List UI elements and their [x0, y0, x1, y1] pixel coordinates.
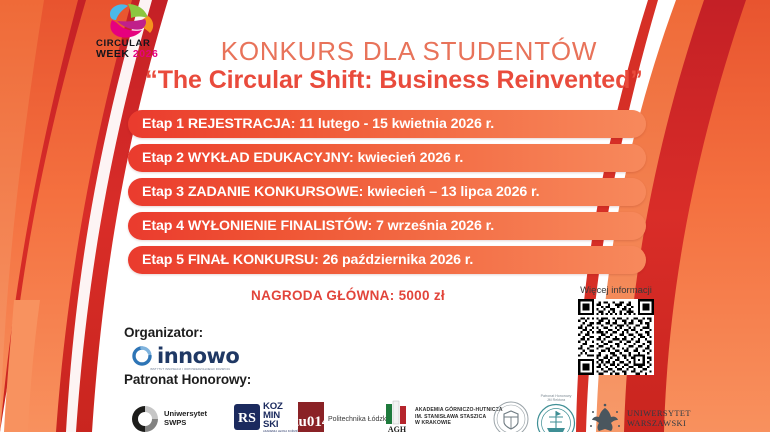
svg-text:RS: RS — [238, 411, 256, 426]
stage-bar-1: Etap 1 REJESTRACJA: 11 lutego - 15 kwiet… — [128, 110, 646, 138]
warszawa-seal-icon — [536, 403, 576, 432]
logo-agh-krakow: AGH AKADEMIA GÓRNICZO-HUTNICZA IM. STANI… — [384, 400, 503, 432]
qr-label: Więcej informacji — [566, 285, 666, 296]
qr-code[interactable] — [578, 299, 654, 375]
stage-label-1: Etap 1 REJESTRACJA: 11 lutego - 15 kwiet… — [128, 116, 494, 132]
patronage-logo-row: Uniwersytet SWPS RS KOZ MIN SKI AKADEMIA… — [126, 394, 656, 432]
stage-bar-4: Etap 4 WYŁONIENIE FINALISTÓW: 7 września… — [128, 212, 646, 240]
logo-miasto-stoleczne-warszawa: Patronat Honorowy JM Rektora — [536, 394, 576, 432]
stage-label-3: Etap 3 ZADANIE KONKURSOWE: kwiecień – 13… — [128, 184, 540, 200]
swps-line-2: SWPS — [164, 419, 207, 428]
stage-bar-3: Etap 3 ZADANIE KONKURSOWE: kwiecień – 13… — [128, 178, 646, 206]
circular-week-logo-mark — [102, 2, 164, 38]
agh-line-2: IM. STANISŁAWA STASZICA — [415, 414, 503, 421]
patronage-block: Patronat Honorowy: Uniwersytet SWPS — [124, 372, 251, 387]
poster-root: CIRCULAR WEEK 2026 KONKURS DLA STUDENTÓW… — [0, 0, 770, 432]
agh-line-3: W KRAKOWIE — [415, 420, 503, 427]
stage-bar-2: Etap 2 WYKŁAD EDUKACYJNY: kwiecień 2026 … — [128, 144, 646, 172]
stage-list: Etap 1 REJESTRACJA: 11 lutego - 15 kwiet… — [128, 110, 646, 280]
organizer-title: Organizator: — [124, 325, 239, 340]
prize-text: NAGRODA GŁÓWNA: 5000 zł — [128, 288, 568, 303]
politechnika-lodzka-label: Politechnika Łódzka — [328, 416, 390, 423]
logo-swoosh-icon — [102, 2, 164, 38]
stage-label-4: Etap 4 WYŁONIENIE FINALISTÓW: 7 września… — [128, 218, 494, 234]
uw-line-2: WARSZAWSKI — [627, 419, 691, 430]
logo-politechnika-warszawska — [492, 400, 530, 432]
svg-text:AGH: AGH — [388, 425, 407, 432]
page-kicker: KONKURS DLA STUDENTÓW — [0, 36, 770, 67]
svg-text:P\u0141: P\u0141 — [298, 414, 324, 430]
innowo-logo: innowo — [130, 344, 239, 368]
politechnika-warszawska-seal-icon — [492, 400, 530, 432]
logo-politechnika-lodzka: P\u0141 Politechnika Łódzka — [298, 402, 390, 432]
agh-mark-icon: AGH — [384, 400, 410, 432]
uw-line-1: UNIWERSYTET — [627, 409, 691, 420]
innowo-subline: INSTYTUT INNOWACJI I ODPOWIEDZIALNEGO RO… — [150, 368, 239, 371]
agh-line-1: AKADEMIA GÓRNICZO-HUTNICZA — [415, 407, 503, 414]
organizer-block: Organizator: innowo INSTYTUT INNOWACJI I… — [124, 325, 239, 371]
stage-label-5: Etap 5 FINAŁ KONKURSU: 26 października 2… — [128, 252, 473, 268]
uw-eagle-icon — [588, 402, 622, 432]
qr-block: Więcej informacji — [566, 285, 666, 375]
page-title: “The Circular Shift: Business Reinvented… — [0, 66, 770, 95]
politechnika-lodzka-mark-icon: P\u0141 — [298, 402, 324, 432]
innowo-circle-icon — [130, 344, 154, 368]
patronage-title: Patronat Honorowy: — [124, 372, 251, 387]
logo-uniwersytet-warszawski: UNIWERSYTET WARSZAWSKI — [588, 402, 691, 432]
swps-mark-icon — [130, 404, 160, 432]
stage-bar-5: Etap 5 FINAŁ KONKURSU: 26 października 2… — [128, 246, 646, 274]
kozminski-mark-icon: RS — [234, 404, 260, 430]
innowo-wordmark: innowo — [157, 344, 239, 368]
logo-uniwersytet-swps: Uniwersytet SWPS — [130, 404, 207, 432]
stage-label-2: Etap 2 WYKŁAD EDUKACYJNY: kwiecień 2026 … — [128, 150, 463, 166]
